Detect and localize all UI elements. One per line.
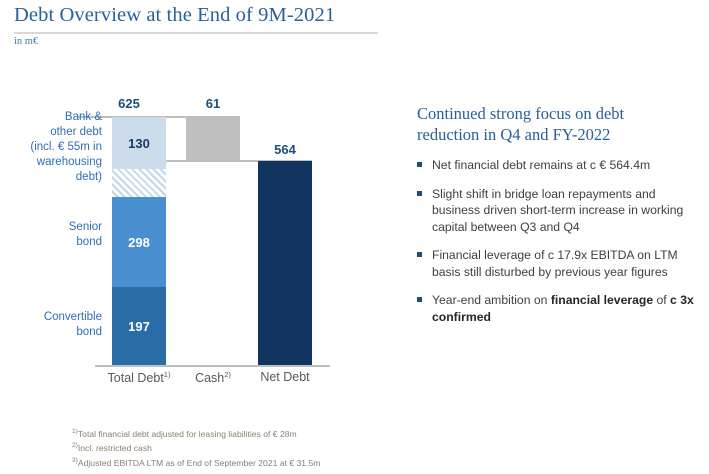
- side-label-bank-line-3: (incl. € 55m in: [6, 140, 102, 155]
- segment-cash: [186, 117, 240, 161]
- title-divider: [14, 32, 378, 34]
- bullet-text: Net financial debt remains at c € 564.4m: [432, 158, 650, 172]
- axis-label-net-debt-text: Net Debt: [260, 370, 309, 384]
- segment-warehousing-hatch: [112, 169, 166, 197]
- segment-value-bank: 130: [128, 136, 150, 151]
- footnote-1: 1)Total financial debt adjusted for leas…: [72, 426, 522, 440]
- side-label-senior-bond: Senior bond: [6, 220, 102, 250]
- side-label-bank-line-4: warehousing: [6, 155, 102, 170]
- segment-bank-other-debt: 130: [112, 117, 166, 169]
- commentary-heading: Continued strong focus on debt reduction…: [417, 103, 701, 145]
- bullet-square-icon: [417, 191, 422, 196]
- footnote-1-text: Total financial debt adjusted for leasin…: [78, 429, 297, 439]
- commentary-heading-line-1: Continued strong focus on debt: [417, 103, 701, 124]
- commentary-heading-line-2: reduction in Q4 and FY-2022: [417, 124, 701, 145]
- side-label-senior-line-1: Senior: [6, 220, 102, 235]
- commentary-panel: Continued strong focus on debt reduction…: [417, 103, 701, 337]
- list-item: Year-end ambition on financial leverage …: [417, 292, 701, 325]
- value-label-net-debt: 564: [250, 142, 320, 157]
- footnote-3: 3)Adjusted EBITDA LTM as of End of Septe…: [72, 455, 522, 469]
- bullet-text: Financial leverage of c 17.9x EBITDA on …: [432, 248, 678, 279]
- bullet-text: Slight shift in bridge loan repayments a…: [432, 187, 683, 234]
- commentary-bullet-list: Net financial debt remains at c € 564.4m…: [417, 157, 701, 325]
- debt-waterfall-chart: 625 61 564 130 298 197 Bank & other debt…: [0, 60, 400, 390]
- side-label-convertible-bond: Convertible bond: [6, 310, 102, 340]
- side-label-convertible-line-2: bond: [6, 325, 102, 340]
- side-label-bank-other-debt: Bank & other debt (incl. € 55m in wareho…: [6, 110, 102, 185]
- chart-unit-label: in m€: [14, 36, 38, 47]
- axis-label-cash-text: Cash: [195, 371, 224, 385]
- value-label-total-debt: 625: [94, 96, 164, 111]
- list-item: Net financial debt remains at c € 564.4m: [417, 157, 701, 174]
- axis-label-net-debt: Net Debt: [230, 370, 340, 384]
- side-label-bank-line-5: debt): [6, 170, 102, 185]
- list-item: Financial leverage of c 17.9x EBITDA on …: [417, 247, 701, 280]
- segment-net-debt: [258, 161, 312, 365]
- side-label-bank-line-2: other debt: [6, 125, 102, 140]
- side-label-convertible-line-1: Convertible: [6, 310, 102, 325]
- bullet-square-icon: [417, 252, 422, 257]
- footnote-block: 1)Total financial debt adjusted for leas…: [72, 426, 522, 469]
- bullet-square-icon: [417, 162, 422, 167]
- side-label-bank-line-1: Bank &: [6, 110, 102, 125]
- axis-label-total-debt-text: Total Debt: [108, 371, 164, 385]
- footnote-2: 2)Incl. restricted cash: [72, 440, 522, 454]
- footnote-2-text: Incl. restricted cash: [78, 443, 152, 453]
- bullet-text-prefix: Year-end ambition on: [432, 293, 551, 307]
- segment-value-convertible: 197: [128, 319, 150, 334]
- segment-convertible-bond: 197: [112, 287, 166, 365]
- value-label-cash: 61: [178, 96, 248, 111]
- segment-value-senior: 298: [128, 235, 150, 250]
- footnote-3-text: Adjusted EBITDA LTM as of End of Septemb…: [78, 458, 321, 468]
- side-label-senior-line-2: bond: [6, 235, 102, 250]
- bullet-text-bold-1: financial leverage: [551, 293, 653, 307]
- chart-baseline: [95, 365, 330, 367]
- bullet-square-icon: [417, 297, 422, 302]
- bullet-text-middle: of: [653, 293, 670, 307]
- list-item: Slight shift in bridge loan repayments a…: [417, 186, 701, 236]
- segment-senior-bond: 298: [112, 197, 166, 287]
- page-title: Debt Overview at the End of 9M-2021: [14, 4, 335, 27]
